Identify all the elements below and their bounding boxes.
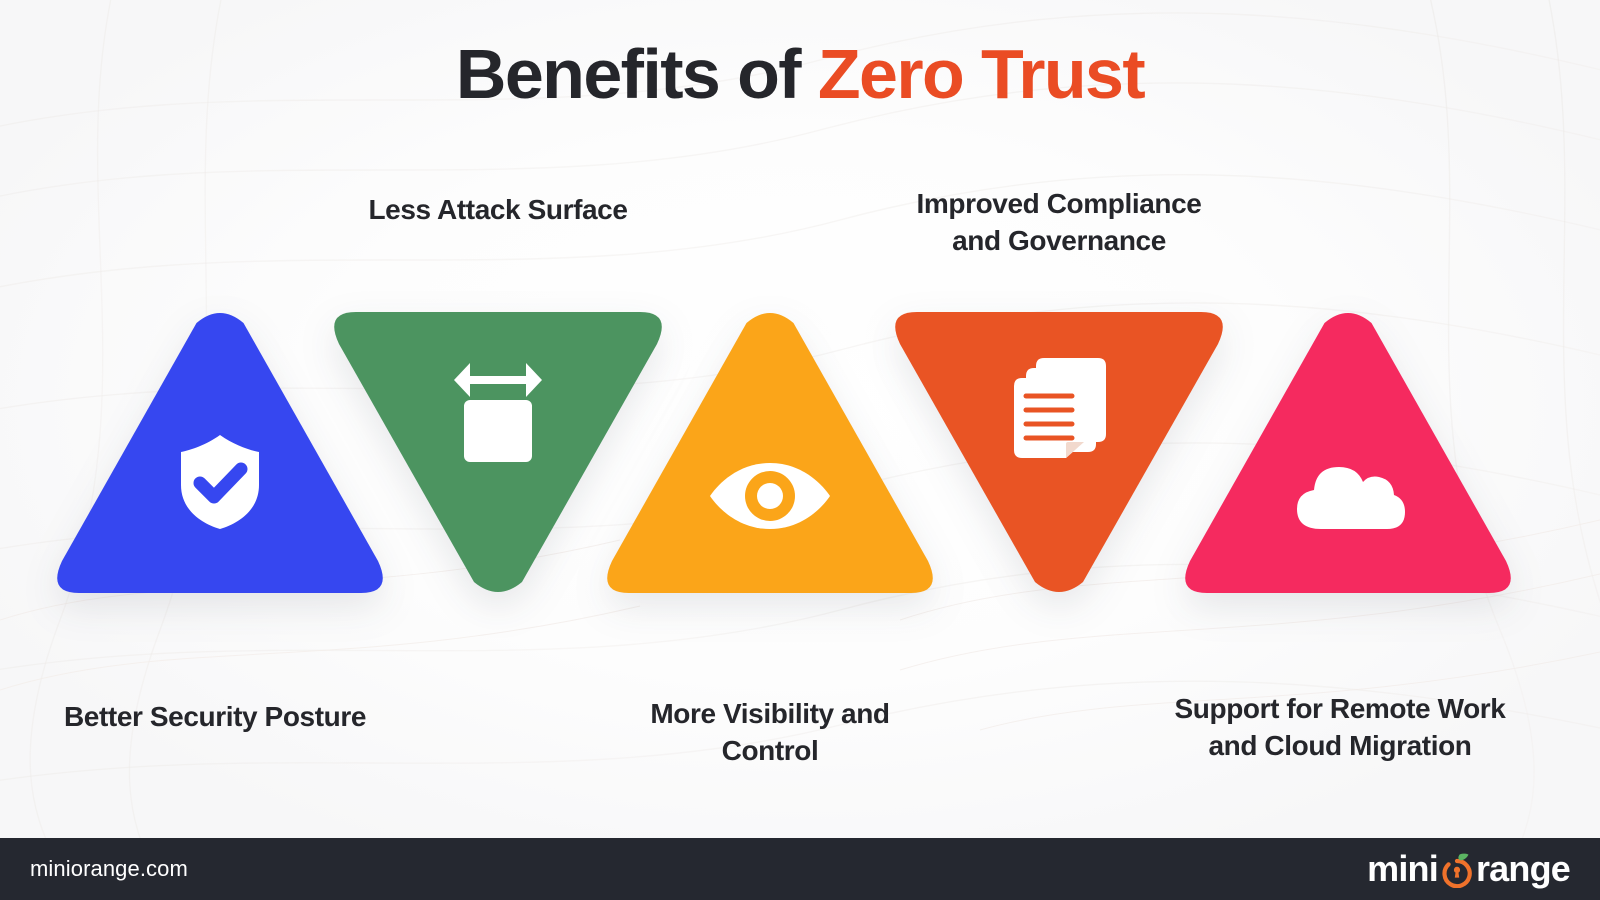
footer-website[interactable]: miniorange.com (30, 856, 188, 882)
benefit-tile-improved-compliance-and-governance[interactable] (893, 308, 1225, 600)
label-text: Less Attack Surface (368, 194, 627, 225)
label-text-line1: More Visibility and (590, 696, 950, 733)
orange-lock-icon (1439, 850, 1475, 888)
title-block: Benefits of Zero Trust (0, 38, 1600, 112)
title-lead: Benefits of (456, 35, 818, 113)
footer-bar: miniorange.com mini range (0, 838, 1600, 900)
logo-text-post: range (1476, 851, 1570, 887)
triangle-down-orange (893, 308, 1225, 600)
label-text-line1: Support for Remote Work (1125, 691, 1555, 728)
label-text: Better Security Posture (64, 701, 366, 732)
benefit-tile-support-for-remote-work-and-cloud-migration[interactable] (1183, 305, 1513, 597)
label-text-line1: Improved Compliance (859, 186, 1259, 223)
page-title: Benefits of Zero Trust (0, 38, 1600, 112)
miniorange-logo[interactable]: mini range (1367, 850, 1570, 888)
benefit-tile-more-visibility-and-control[interactable] (605, 305, 935, 597)
triangle-up-pink (1183, 305, 1513, 597)
title-accent: Zero Trust (818, 35, 1144, 113)
logo-text-pre: mini (1367, 851, 1438, 887)
label-improved-compliance-and-governance: Improved Compliance and Governance (859, 186, 1259, 260)
triangle-up-amber (605, 305, 935, 597)
label-text-line2: Control (590, 733, 950, 770)
label-less-attack-surface: Less Attack Surface (308, 192, 688, 229)
label-support-for-remote-work-and-cloud-migration: Support for Remote Work and Cloud Migrat… (1125, 691, 1555, 765)
label-better-security-posture: Better Security Posture (25, 699, 405, 736)
label-more-visibility-and-control: More Visibility and Control (590, 696, 950, 770)
label-text-line2: and Cloud Migration (1125, 728, 1555, 765)
label-text-line2: and Governance (859, 223, 1259, 260)
infographic-canvas: Benefits of Zero Trust (0, 0, 1600, 900)
